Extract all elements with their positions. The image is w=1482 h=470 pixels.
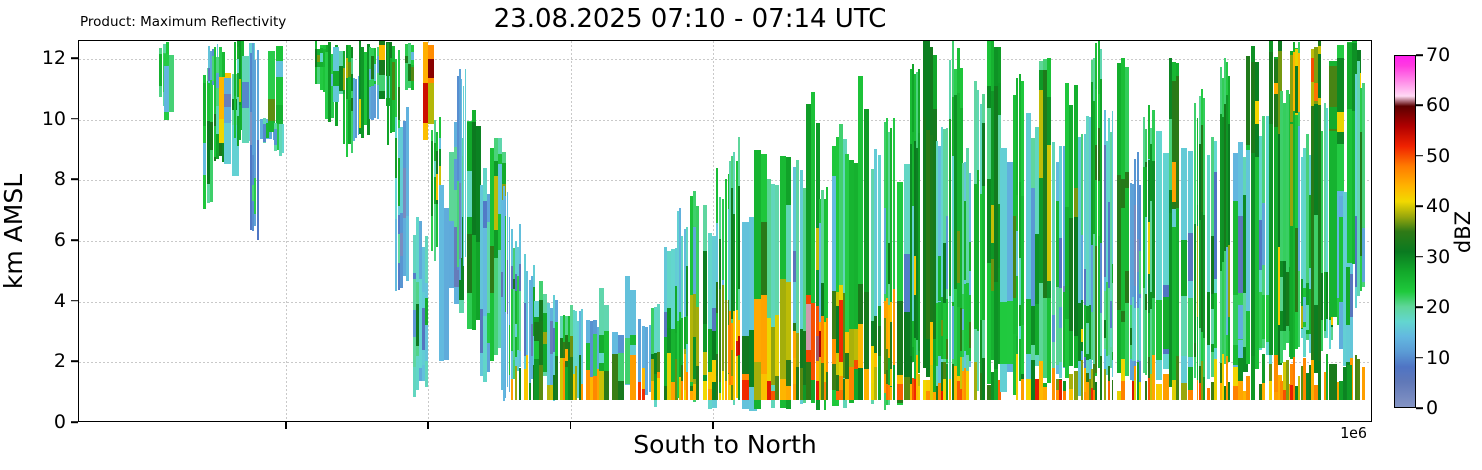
reflectivity-column (1188, 233, 1194, 281)
reflectivity-column (529, 383, 531, 401)
reflectivity-column (282, 124, 284, 154)
reflectivity-column (224, 94, 232, 107)
y-tick-label: 6 (54, 229, 66, 251)
y-tick-label: 8 (54, 168, 66, 190)
colorbar-tick-label: 0 (1426, 397, 1438, 419)
reflectivity-column (1362, 367, 1364, 400)
reflectivity-column (581, 309, 583, 389)
reflectivity-column (1329, 107, 1337, 129)
colorbar-tick-label: 50 (1426, 145, 1450, 167)
colorbar-tick-label: 20 (1426, 296, 1450, 318)
reflectivity-column (897, 384, 904, 400)
reflectivity-column (268, 51, 276, 99)
reflectivity-column (1298, 53, 1300, 112)
reflectivity-column (1188, 298, 1194, 357)
colorbar-tick-mark (1416, 357, 1423, 359)
reflectivity-column (411, 67, 414, 81)
x-tick-mark (570, 422, 572, 429)
reflectivity-column (1156, 300, 1163, 360)
reflectivity-column (428, 59, 433, 79)
reflectivity-column (1021, 196, 1024, 325)
x-tick-mark (712, 422, 714, 429)
reflectivity-column (555, 356, 557, 400)
reflectivity-column (1214, 172, 1217, 279)
colorbar-tick-mark (1416, 54, 1423, 56)
reflectivity-column (786, 386, 791, 401)
reflectivity-column (878, 356, 881, 401)
colorbar-tick-label: 10 (1426, 347, 1450, 369)
reflectivity-column (1100, 356, 1102, 400)
reflectivity-column (1326, 354, 1328, 400)
reflectivity-column (257, 140, 259, 240)
reflectivity-column (1176, 356, 1179, 401)
y-tick-mark (71, 57, 78, 59)
reflectivity-column (351, 58, 353, 74)
colorbar-tick-mark (1416, 105, 1423, 107)
colorbar-tick-label: 70 (1426, 44, 1450, 66)
reflectivity-column (761, 374, 767, 400)
y-tick-mark (71, 300, 78, 302)
x-axis-title: South to North (78, 430, 1372, 459)
reflectivity-column (982, 186, 984, 320)
reflectivity-column (1228, 382, 1230, 400)
reflectivity-column (465, 69, 467, 257)
reflectivity-column (738, 186, 740, 289)
reflectivity-column (858, 368, 863, 400)
reflectivity-column (1347, 365, 1352, 401)
reflectivity-column (969, 242, 971, 271)
reflectivity-column (1203, 215, 1205, 338)
y-tick-label: 12 (42, 47, 66, 69)
colorbar-tick-mark (1416, 205, 1423, 207)
reflectivity-data (79, 41, 1371, 421)
reflectivity-column (1152, 161, 1154, 299)
reflectivity-column (1188, 390, 1194, 400)
reflectivity-column (169, 55, 174, 112)
reflectivity-column (775, 376, 779, 400)
reflectivity-column (1362, 228, 1364, 282)
reflectivity-column (581, 384, 583, 400)
reflectivity-column (1156, 384, 1163, 400)
y-tick-mark (71, 118, 78, 120)
x-axis-offset-label: 1e6 (1340, 424, 1367, 442)
reflectivity-column (1318, 361, 1321, 400)
reflectivity-column (509, 325, 511, 376)
reflectivity-column (1262, 383, 1265, 400)
reflectivity-column (742, 380, 750, 401)
reflectivity-column (1047, 145, 1051, 281)
colorbar-tick-label: 60 (1426, 94, 1450, 116)
reflectivity-column (555, 322, 557, 357)
reflectivity-column (1125, 188, 1129, 271)
reflectivity-column (1100, 79, 1102, 243)
reflectivity-column (1181, 296, 1187, 356)
reflectivity-column (1329, 364, 1337, 401)
colorbar-tick-label: 30 (1426, 246, 1450, 268)
reflectivity-column (630, 355, 635, 400)
reflectivity-column (1139, 298, 1141, 361)
reflectivity-column (1121, 381, 1125, 401)
y-tick-label: 10 (42, 108, 66, 130)
reflectivity-column (1176, 76, 1179, 208)
reflectivity-column (1318, 54, 1321, 98)
colorbar-tick-mark (1416, 306, 1423, 308)
reflectivity-column (864, 369, 869, 401)
reflectivity-column (918, 133, 920, 351)
reflectivity-column (618, 381, 624, 400)
reflectivity-column (1255, 101, 1259, 124)
radar-curtain-figure: Product: Maximum Reflectivity 23.08.2025… (0, 0, 1482, 470)
reflectivity-column (686, 372, 688, 400)
reflectivity-column (444, 208, 449, 360)
reflectivity-column (1108, 381, 1110, 400)
reflectivity-column (1350, 274, 1353, 317)
reflectivity-column (411, 52, 414, 60)
reflectivity-column (1043, 387, 1047, 400)
reflectivity-column (1139, 382, 1141, 400)
reflectivity-column (893, 289, 895, 377)
reflectivity-column (519, 291, 521, 351)
reflectivity-column (333, 71, 339, 85)
reflectivity-column (1203, 377, 1205, 400)
reflectivity-column (969, 322, 971, 349)
y-tick-label: 4 (54, 290, 66, 312)
reflectivity-column (754, 362, 760, 400)
colorbar-gradient (1394, 55, 1416, 408)
reflectivity-column (918, 386, 920, 400)
colorbar: 010203040506070 (1394, 55, 1416, 408)
reflectivity-column (696, 366, 699, 401)
colorbar-title-text: dBZ (1451, 210, 1475, 252)
reflectivity-column (1228, 124, 1230, 244)
reflectivity-column (276, 61, 284, 77)
reflectivity-column (966, 382, 968, 400)
reflectivity-column (604, 371, 609, 400)
reflectivity-column (826, 372, 828, 401)
reflectivity-column (1214, 293, 1217, 348)
reflectivity-column (1000, 302, 1007, 364)
reflectivity-column (1021, 379, 1024, 401)
y-tick-label: 2 (54, 350, 66, 372)
y-tick-mark (71, 361, 78, 363)
reflectivity-column (761, 222, 767, 302)
reflectivity-column (1095, 382, 1097, 401)
reflectivity-column (242, 82, 249, 109)
colorbar-tick-mark (1416, 155, 1423, 157)
colorbar-tick-label: 40 (1426, 195, 1450, 217)
reflectivity-column (1269, 381, 1272, 401)
reflectivity-column (1063, 391, 1066, 401)
x-tick-mark (427, 422, 429, 429)
page-title: 23.08.2025 07:10 - 07:14 UTC (0, 4, 1380, 34)
y-tick-label: 0 (54, 411, 66, 433)
reflectivity-column (1139, 251, 1141, 294)
reflectivity-column (738, 355, 740, 400)
colorbar-title: dBZ (1448, 55, 1478, 408)
y-tick-mark (71, 239, 78, 241)
reflectivity-column (982, 358, 984, 400)
reflectivity-column (406, 216, 409, 281)
reflectivity-column (1112, 380, 1114, 400)
colorbar-tick-mark (1416, 407, 1423, 409)
reflectivity-column (1228, 242, 1230, 317)
y-axis: 024681012 (0, 40, 78, 422)
y-tick-mark (71, 179, 78, 181)
reflectivity-column (398, 87, 400, 120)
reflectivity-column (1152, 355, 1154, 400)
reflectivity-column (1181, 383, 1187, 401)
reflectivity-column (1337, 112, 1345, 132)
reflectivity-column (519, 368, 521, 401)
reflectivity-column (425, 298, 428, 325)
reflectivity-column (893, 365, 895, 400)
reflectivity-column (379, 45, 385, 60)
reflectivity-column (1112, 283, 1114, 352)
reflectivity-column (511, 379, 513, 400)
y-tick-mark (71, 421, 78, 423)
reflectivity-column (1357, 359, 1359, 400)
x-tick-mark (285, 422, 287, 429)
plot-area (78, 40, 1372, 422)
reflectivity-column (657, 378, 660, 400)
colorbar-tick-mark (1416, 256, 1423, 258)
reflectivity-column (612, 354, 618, 400)
reflectivity-column (210, 79, 213, 121)
reflectivity-column (1214, 359, 1217, 400)
reflectivity-column (1181, 240, 1187, 296)
